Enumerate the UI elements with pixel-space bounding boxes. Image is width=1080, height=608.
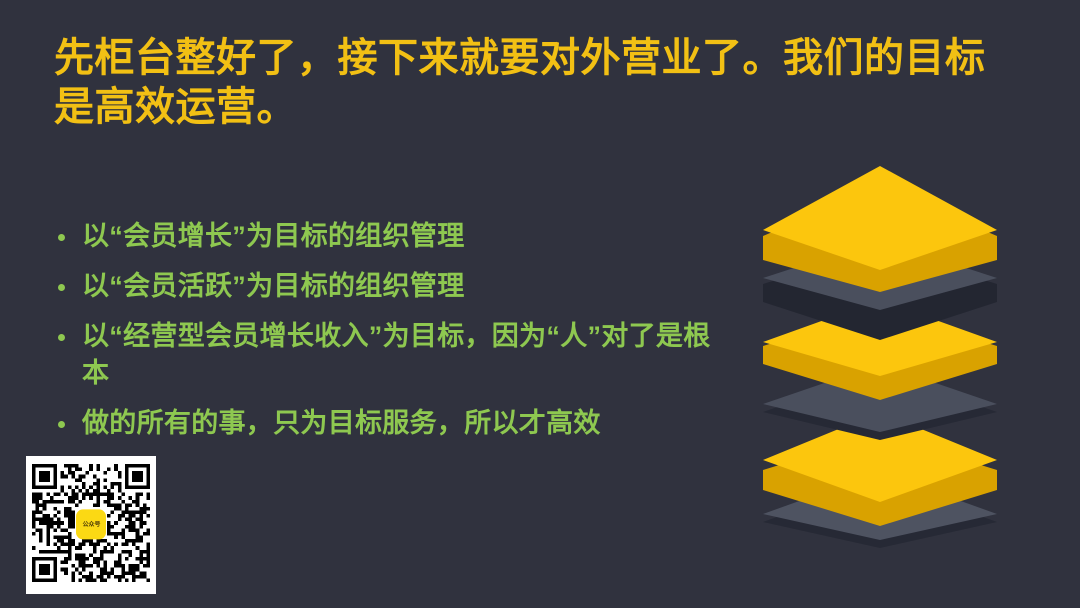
page-title: 先柜台整好了，接下来就要对外营业了。我们的目标是高效运营。 bbox=[54, 34, 1004, 132]
qr-code-logo-label: 公众号 bbox=[82, 520, 100, 529]
slide-canvas: 先柜台整好了，接下来就要对外营业了。我们的目标是高效运营。 以“会员增长”为目标… bbox=[0, 0, 1080, 608]
list-item-label: 做的所有的事，只为目标服务，所以才高效 bbox=[82, 408, 601, 438]
wechat-qr-code[interactable]: 公众号 bbox=[26, 456, 156, 594]
layered-stack-illustration bbox=[735, 150, 1025, 550]
list-item: 做的所有的事，只为目标服务，所以才高效 bbox=[56, 405, 716, 441]
list-item: 以“会员增长”为目标的组织管理 bbox=[56, 218, 716, 254]
qr-code-logo: 公众号 bbox=[76, 509, 106, 539]
list-item-label: 以“会员增长”为目标的组织管理 bbox=[82, 221, 465, 251]
list-item-label: 以“经营型会员增长收入”为目标，因为“人”对了是根本 bbox=[82, 321, 711, 387]
bullet-dot-icon bbox=[58, 234, 65, 241]
bullet-dot-icon bbox=[58, 334, 65, 341]
list-item: 以“会员活跃”为目标的组织管理 bbox=[56, 268, 716, 304]
bullet-dot-icon bbox=[58, 284, 65, 291]
list-item: 以“经营型会员增长收入”为目标，因为“人”对了是根本 bbox=[56, 318, 716, 390]
bullet-dot-icon bbox=[58, 421, 65, 428]
list-item-label: 以“会员活跃”为目标的组织管理 bbox=[82, 271, 465, 301]
bullet-list: 以“会员增长”为目标的组织管理 以“会员活跃”为目标的组织管理 以“经营型会员增… bbox=[56, 218, 716, 455]
